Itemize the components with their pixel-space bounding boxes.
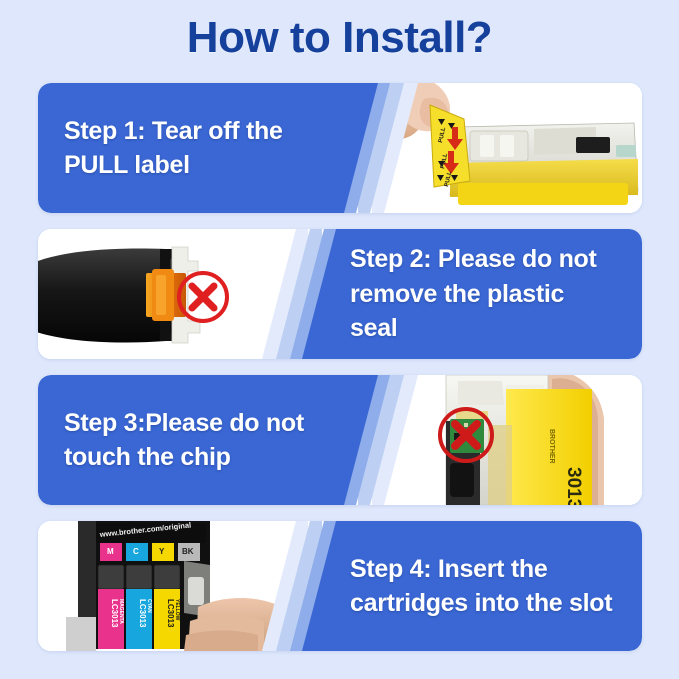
- step-card-3: BROTHER 3013: [38, 375, 642, 505]
- svg-text:BK: BK: [182, 547, 194, 556]
- svg-text:3013: 3013: [563, 467, 584, 505]
- svg-text:LC3013: LC3013: [166, 599, 175, 628]
- step-2-text: Step 2: Please do not remove the plastic…: [350, 242, 616, 346]
- step-4-text: Step 4: Insert the cartridges into the s…: [350, 552, 616, 621]
- step-4-panel: Step 4: Insert the cartridges into the s…: [302, 521, 642, 651]
- step-1-text: Step 1: Tear off the PULL label: [64, 114, 338, 183]
- svg-text:C: C: [133, 547, 139, 556]
- svg-text:MAGENTA: MAGENTA: [118, 599, 124, 624]
- step-2-panel: Step 2: Please do not remove the plastic…: [302, 229, 642, 359]
- step-card-4: www.brother.com/original M C Y BK: [38, 521, 642, 651]
- svg-text:YELLOW: YELLOW: [174, 599, 180, 621]
- svg-text:BROTHER: BROTHER: [548, 429, 555, 464]
- step-3-text: Step 3:Please do not touch the chip: [64, 406, 338, 475]
- step-card-2: Step 2: Please do not remove the plastic…: [38, 229, 642, 359]
- steps-list: PULL PULL PULL Step 1: Tear off the PULL…: [38, 83, 642, 667]
- svg-text:Y: Y: [159, 547, 165, 556]
- svg-text:M: M: [107, 547, 114, 556]
- page-title: How to Install?: [0, 0, 679, 62]
- svg-text:LC3013: LC3013: [110, 599, 119, 628]
- svg-text:CYAN: CYAN: [146, 599, 152, 613]
- step-3-panel: Step 3:Please do not touch the chip: [38, 375, 378, 505]
- step-card-1: PULL PULL PULL Step 1: Tear off the PULL…: [38, 83, 642, 213]
- step-1-panel: Step 1: Tear off the PULL label: [38, 83, 378, 213]
- svg-text:LC3013: LC3013: [138, 599, 147, 628]
